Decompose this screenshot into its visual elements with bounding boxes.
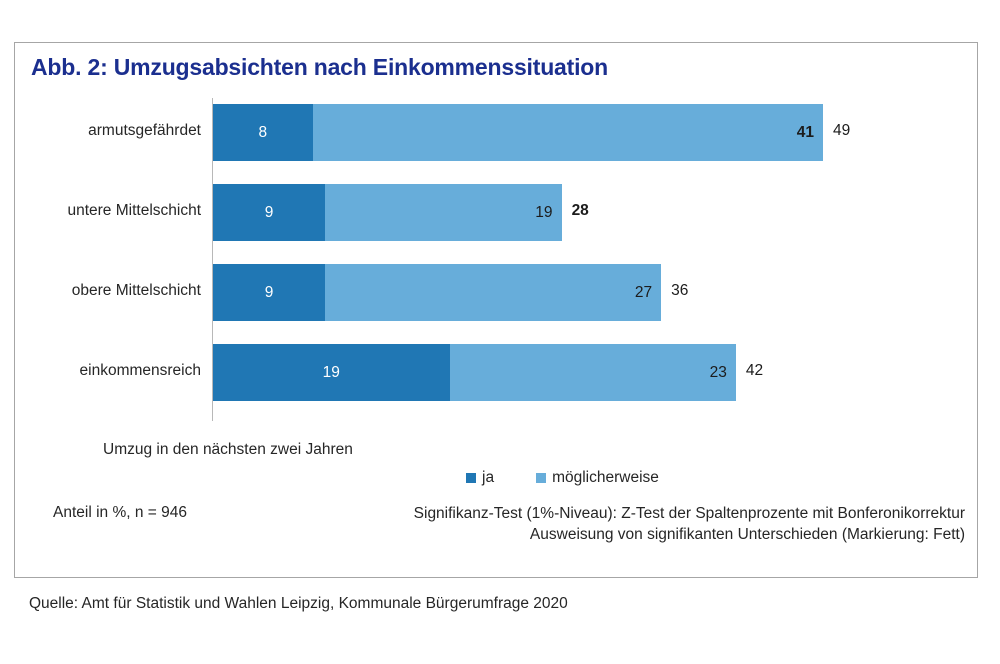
chart-legend: ja möglicherweise xyxy=(466,469,659,487)
bar-value-ja: 9 xyxy=(265,204,274,222)
bar-value-ja: 8 xyxy=(258,124,267,142)
note-significance: Signifikanz-Test (1%-Niveau): Z-Test der… xyxy=(414,504,965,546)
bar-segment-ja[interactable]: 9 xyxy=(213,264,325,321)
bar-segment-moeglicherweise[interactable]: 27 xyxy=(325,264,661,321)
bar-segment-ja[interactable]: 8 xyxy=(213,104,313,161)
bar-value-moeglicherweise: 27 xyxy=(635,284,661,302)
category-label: untere Mittelschicht xyxy=(67,202,201,220)
bar-value-moeglicherweise: 19 xyxy=(535,204,561,222)
bar-value-moeglicherweise: 41 xyxy=(797,124,823,142)
bar-total-value: 36 xyxy=(671,282,688,300)
bar-total-value: 42 xyxy=(746,362,763,380)
bar-row: einkommensreich 19 23 42 xyxy=(15,344,977,401)
bar-segment-moeglicherweise[interactable]: 23 xyxy=(450,344,736,401)
bar-row: untere Mittelschicht 9 19 28 xyxy=(15,184,977,241)
source-note: Quelle: Amt für Statistik und Wahlen Lei… xyxy=(29,595,568,613)
figure-frame: Abb. 2: Umzugsabsichten nach Einkommenss… xyxy=(14,42,978,578)
category-label: einkommensreich xyxy=(80,362,201,380)
legend-item-moeglicherweise[interactable]: möglicherweise xyxy=(536,469,659,487)
legend-swatch-icon xyxy=(536,473,546,483)
bar-total-value: 49 xyxy=(833,122,850,140)
chart-title: Abb. 2: Umzugsabsichten nach Einkommenss… xyxy=(31,54,608,81)
bar-row: obere Mittelschicht 9 27 36 xyxy=(15,264,977,321)
legend-swatch-icon xyxy=(466,473,476,483)
bar-total-value: 28 xyxy=(572,202,589,220)
bar-segment-moeglicherweise[interactable]: 19 xyxy=(325,184,562,241)
bar-segment-ja[interactable]: 9 xyxy=(213,184,325,241)
stacked-bar: 9 27 xyxy=(213,264,661,321)
bar-segment-moeglicherweise[interactable]: 41 xyxy=(313,104,823,161)
category-label: armutsgefährdet xyxy=(88,122,201,140)
note-share-n: Anteil in %, n = 946 xyxy=(53,504,187,522)
note-significance-line2: Ausweisung von signifikanten Unterschied… xyxy=(414,525,965,546)
stacked-bar: 8 41 xyxy=(213,104,823,161)
legend-label: möglicherweise xyxy=(552,469,659,487)
bar-value-moeglicherweise: 23 xyxy=(710,364,736,382)
legend-item-ja[interactable]: ja xyxy=(466,469,494,487)
stacked-bar: 9 19 xyxy=(213,184,562,241)
category-label: obere Mittelschicht xyxy=(72,282,201,300)
axis-caption: Umzug in den nächsten zwei Jahren xyxy=(103,441,353,459)
bar-row: armutsgefährdet 8 41 49 xyxy=(15,104,977,161)
plot-area: armutsgefährdet 8 41 49 untere Mittelsch… xyxy=(15,98,977,428)
bar-segment-ja[interactable]: 19 xyxy=(213,344,450,401)
legend-label: ja xyxy=(482,469,494,487)
bar-value-ja: 19 xyxy=(323,364,340,382)
bar-value-ja: 9 xyxy=(265,284,274,302)
stacked-bar: 19 23 xyxy=(213,344,736,401)
note-significance-line1: Signifikanz-Test (1%-Niveau): Z-Test der… xyxy=(414,504,965,525)
